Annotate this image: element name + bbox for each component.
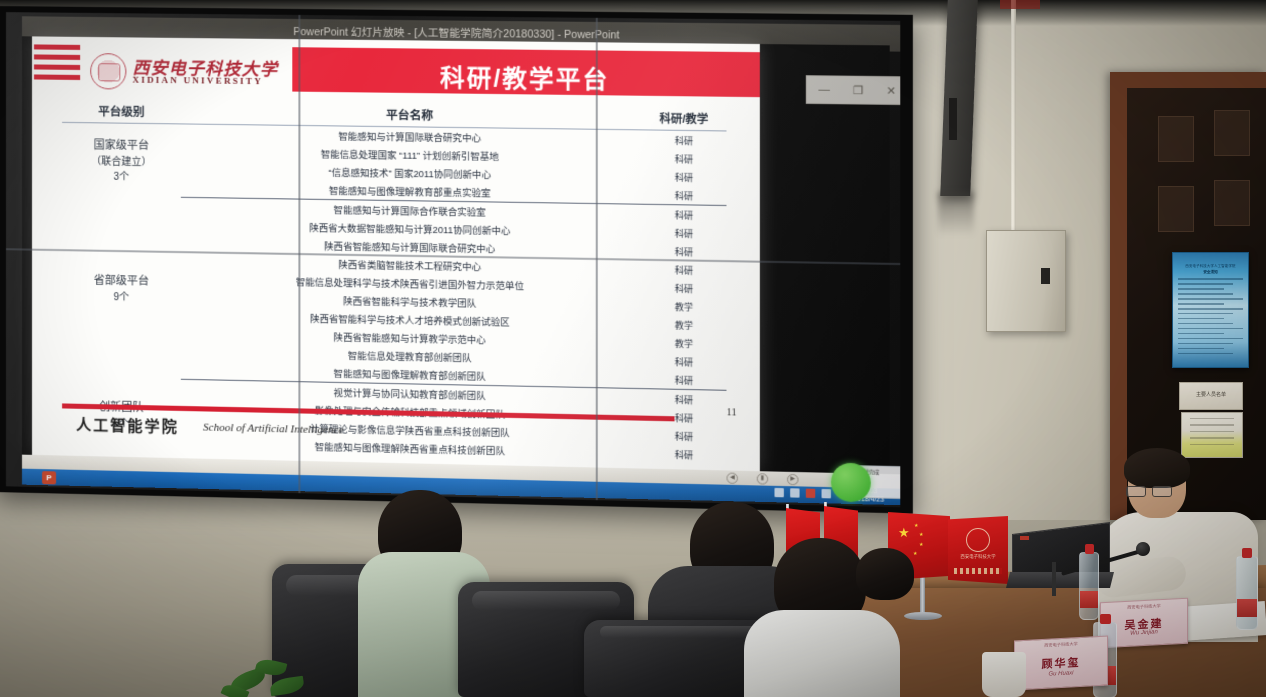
slide-letterbox-left (22, 36, 32, 455)
sound-icon[interactable] (790, 488, 799, 497)
audience-body (744, 610, 900, 697)
university-flag-fringe (954, 568, 1002, 574)
paper-cup (982, 652, 1026, 697)
platform-type: 科研 (641, 426, 726, 446)
microphone-stand (1052, 562, 1056, 596)
microphone-head-icon (1136, 542, 1150, 556)
flag-star-icon: ★ (914, 520, 918, 533)
door-panel (1158, 116, 1194, 162)
signal-icon[interactable] (822, 489, 831, 498)
poster-title: 西安电子科技大学人工智能学院 (1173, 263, 1248, 268)
platform-type: 科研 (641, 389, 726, 410)
platform-type: 科研 (641, 260, 726, 280)
flag-star-icon: ★ (898, 526, 910, 539)
platform-type: 科研 (641, 351, 726, 371)
col-header-level: 平台级别 (62, 99, 181, 124)
group-level-main: 国家级平台 (62, 136, 181, 154)
projection-screen-bezel: PowerPoint 幻灯片放映 - [人工智能学院简介20180330] - … (0, 6, 913, 514)
university-flag: 西安电子科技大学 (948, 516, 1008, 584)
ceiling-pipe (1000, 0, 1040, 9)
flag-star-icon: ★ (919, 539, 923, 552)
conference-room-photo: 西安电子科技大学人工智能学院 安全须知 主要人员名单 PowerPoint 幻灯… (0, 0, 1266, 697)
door-plaque-text: 主要人员名单 (1180, 391, 1242, 398)
platform-type: 科研 (641, 149, 726, 169)
flag-stand-base (904, 612, 942, 620)
pen-tool-icon[interactable]: ▮ (757, 473, 768, 485)
restore-icon[interactable]: ❐ (853, 83, 863, 96)
col-header-type: 科研/教学 (641, 106, 726, 131)
nameplate: 西安电子科技大学 顾华玺 Gu Huaxi (1014, 636, 1108, 691)
flag-star-icon: ★ (913, 548, 917, 561)
nameplate-org: 西安电子科技大学 (1101, 601, 1187, 612)
platform-type: 科研 (641, 444, 726, 464)
door-plaque: 主要人员名单 (1179, 382, 1243, 410)
input-method-icon[interactable] (806, 489, 815, 498)
platform-type: 科研 (641, 167, 726, 187)
door-panel (1214, 180, 1250, 226)
slideshow-nav-buttons[interactable]: ◀ ▮ ▶ (726, 472, 798, 485)
wall-notice (1181, 412, 1243, 458)
potted-plant (222, 656, 312, 697)
speaker-shadow (938, 192, 974, 236)
group-level-count: 3个 (62, 167, 181, 184)
presenter-hair (1124, 448, 1190, 488)
door-panel (1158, 186, 1194, 232)
group-level-cell: 国家级平台 （联合建立） 3个 (62, 122, 181, 197)
university-name-en: XIDIAN UNIVERSITY (132, 75, 263, 87)
university-flag-seal-icon (966, 528, 990, 552)
group-level-sub: （联合建立） (62, 152, 181, 169)
footer-school-cn: 人工智能学院 (76, 414, 179, 437)
network-icon[interactable] (774, 488, 783, 497)
minimize-icon[interactable]: — (818, 84, 830, 96)
platform-type: 科研 (641, 223, 726, 243)
platform-type: 科研 (641, 185, 726, 205)
platform-type: 教学 (641, 296, 726, 316)
laptop-logo-icon (1020, 536, 1029, 540)
speaker-grill (949, 98, 957, 140)
window-controls[interactable]: — ❐ ✕ (806, 75, 900, 105)
platform-type: 科研 (641, 370, 726, 391)
audience-head (856, 548, 914, 600)
plant-leaf (269, 676, 305, 697)
poster-subtitle: 安全须知 (1173, 270, 1248, 275)
electrical-box (986, 230, 1066, 332)
platform-type: 科研 (641, 130, 726, 150)
projection-screen: PowerPoint 幻灯片放映 - [人工智能学院简介20180330] - … (6, 12, 900, 507)
university-flag-text: 西安电子科技大学 (948, 554, 1008, 560)
presenter-glasses (1126, 486, 1178, 495)
electrical-box-latch (1041, 268, 1050, 284)
platform-type: 教学 (641, 315, 726, 335)
slide-title: 科研/教学平台 (292, 56, 760, 97)
previous-slide-icon[interactable]: ◀ (726, 472, 737, 483)
water-bottle (1236, 556, 1258, 630)
slide-page-number: 11 (726, 407, 736, 418)
door-panel (1214, 110, 1250, 156)
water-bottle (1079, 552, 1099, 620)
notification-bubble-icon[interactable] (831, 463, 871, 503)
platform-type: 科研 (641, 204, 726, 224)
wall-poster: 西安电子科技大学人工智能学院 安全须知 (1172, 252, 1249, 368)
next-slide-icon[interactable]: ▶ (787, 473, 799, 485)
platform-type: 教学 (641, 333, 726, 353)
poster-body-lines (1178, 278, 1243, 358)
slide-letterbox-right (760, 44, 890, 474)
slide-title-band: 科研/教学平台 (292, 47, 760, 97)
taskbar-powerpoint-icon[interactable]: P (42, 471, 56, 484)
close-icon[interactable]: ✕ (886, 84, 896, 97)
university-seal-icon (90, 53, 126, 90)
header-stripes-decoration (34, 44, 80, 89)
group-level-cell: 省部级平台 9个 (62, 196, 181, 380)
platform-type: 科研 (641, 278, 726, 298)
wall-conduit (1011, 0, 1016, 232)
group-level-count: 9个 (62, 287, 181, 304)
nameplate-org: 西安电子科技大学 (1015, 639, 1107, 650)
